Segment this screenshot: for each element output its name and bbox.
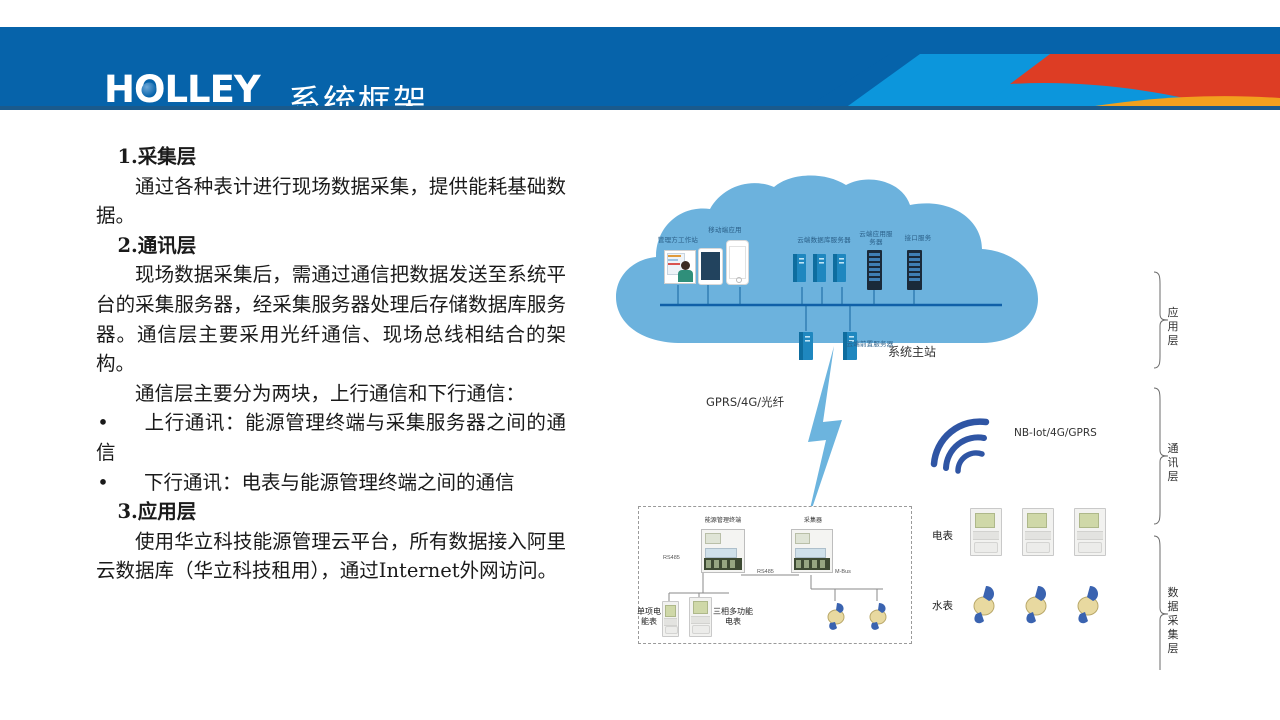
label-management-workstation: 管理方工作站 xyxy=(646,236,710,244)
header-band: HOLLEY TECH 华立科技 系统框架 xyxy=(0,27,1280,110)
layer-label-application: 应用层 xyxy=(1166,306,1180,348)
water-meter-icon xyxy=(1020,582,1054,626)
interface-service-icon xyxy=(906,248,924,292)
section-3-body: 使用华立科技能源管理云平台，所有数据接入阿里云数据库（华立科技租用），通过Int… xyxy=(96,527,566,586)
label-single-phase-meter: 单项电能表 xyxy=(637,607,661,627)
header-decoration xyxy=(760,54,1280,110)
electric-meter-icon xyxy=(1022,508,1054,556)
layer-brackets: 应用层 通讯层 数据采集层 xyxy=(1140,210,1210,670)
smartphone-icon xyxy=(726,240,749,285)
bullet-downlink-text: 下行通讯：电表与能源管理终端之间的通信 xyxy=(144,471,515,494)
logo-letter-h: H xyxy=(104,68,134,110)
field-device-box: 能源管理终端 采集器 RS485 RS485 M-Bus 单项电能表 三相多功能… xyxy=(638,506,912,644)
cloud-database-servers-icon xyxy=(792,250,854,290)
logo-letters-lley: LLEY xyxy=(164,68,259,110)
layer-label-data-collection: 数据采集层 xyxy=(1166,586,1180,656)
bullet-uplink-text: 上行通讯：能源管理终端与采集服务器之间的通信 xyxy=(96,411,566,464)
section-3-heading: 3.应用层 xyxy=(96,497,566,527)
water-meter-icon xyxy=(867,599,891,633)
water-meter-icon xyxy=(1072,582,1106,626)
holley-logo: HOLLEY TECH 华立科技 xyxy=(104,71,264,110)
header-underline xyxy=(0,106,1280,110)
label-uplink-protocol: GPRS/4G/光纤 xyxy=(706,394,784,410)
single-phase-meter-icon xyxy=(662,601,679,637)
slide-root: HOLLEY TECH 华立科技 系统框架 1.采集层 通过各种表计进行现场数据… xyxy=(0,0,1280,720)
section-1-heading: 1.采集层 xyxy=(96,142,566,172)
label-downlink-protocol: NB-Iot/4G/GPRS xyxy=(1014,427,1097,439)
label-water-meters: 水表 xyxy=(932,598,953,613)
logo-letter-o: O xyxy=(134,71,164,109)
layer-label-communication: 通讯层 xyxy=(1166,442,1180,484)
energy-management-terminal-icon xyxy=(701,529,745,573)
electric-meter-icon xyxy=(970,508,1002,556)
electric-meter-icon xyxy=(1074,508,1106,556)
bullet-item-downlink: •下行通讯：电表与能源管理终端之间的通信 xyxy=(96,468,566,498)
cloud-app-server-icon xyxy=(866,248,884,292)
label-three-phase-meter: 三相多功能电表 xyxy=(711,607,755,627)
section-1-body: 通过各种表计进行现场数据采集，提供能耗基础数据。 xyxy=(96,172,566,231)
data-collector-icon xyxy=(791,529,833,573)
label-mbus: M-Bus xyxy=(835,569,851,575)
label-cloud-app-server: 云端应用服务器 xyxy=(856,230,896,246)
water-meter-icon xyxy=(825,599,849,633)
architecture-diagram: 管理方工作站 移动端应用 云端数据库服务器 云端应用服务器 接口服务 云端前置服… xyxy=(610,150,1210,670)
label-rs485-left: RS485 xyxy=(663,555,680,561)
label-energy-terminal: 能源管理终端 xyxy=(697,517,749,525)
three-phase-meter-icon xyxy=(689,597,712,637)
logo-wordmark: HOLLEY xyxy=(104,71,264,109)
section-2-heading: 2.通讯层 xyxy=(96,231,566,261)
tablet-icon xyxy=(698,248,723,285)
label-collector: 采集器 xyxy=(797,517,829,525)
label-system-master-station: 系统主站 xyxy=(888,343,936,360)
section-2-body-2: 通信层主要分为两块，上行通信和下行通信： xyxy=(96,379,566,409)
management-workstation-icon xyxy=(664,250,696,284)
page-title: 系统框架 xyxy=(288,75,428,110)
label-cloud-database-server: 云端数据库服务器 xyxy=(786,236,862,244)
bullet-glyph: • xyxy=(96,468,110,498)
water-meter-icon xyxy=(968,582,1002,626)
label-rs485-mid: RS485 xyxy=(757,569,774,575)
section-2-body: 现场数据采集后，需通过通信把数据发送至系统平台的采集服务器，经采集服务器处理后存… xyxy=(96,260,566,378)
lightning-bolt-icon xyxy=(790,346,866,526)
wifi-signal-icon xyxy=(928,416,998,476)
label-mobile-app: 移动端应用 xyxy=(696,226,754,234)
bullet-item-uplink: •上行通讯：能源管理终端与采集服务器之间的通信 xyxy=(96,408,566,467)
label-electric-meters: 电表 xyxy=(932,528,953,543)
label-interface-service: 接口服务 xyxy=(898,234,938,242)
content-text: 1.采集层 通过各种表计进行现场数据采集，提供能耗基础数据。 2.通讯层 现场数… xyxy=(96,142,566,586)
bullet-glyph: • xyxy=(96,408,110,438)
